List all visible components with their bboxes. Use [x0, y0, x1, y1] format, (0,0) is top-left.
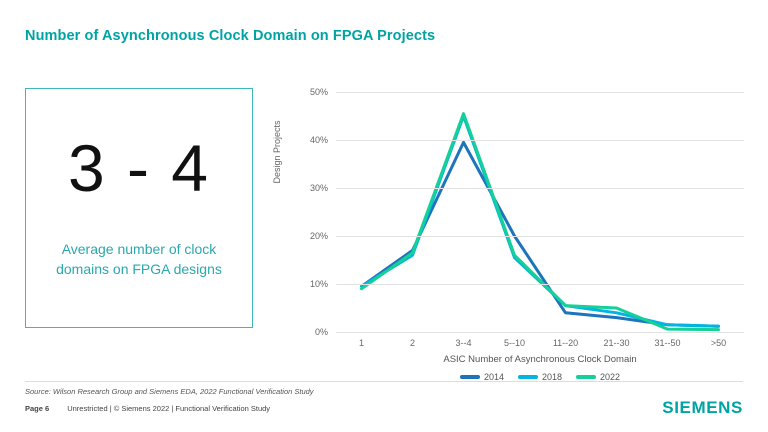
chart-y-tick-label: 10% [310, 279, 328, 289]
page-title: Number of Asynchronous Clock Domain on F… [25, 28, 435, 44]
chart-x-tick-label: 1 [359, 338, 364, 348]
chart-gridline [336, 332, 744, 333]
chart-y-tick-label: 20% [310, 231, 328, 241]
footer-page-row: Page 6 Unrestricted | © Siemens 2022 | F… [25, 404, 270, 413]
chart-x-axis-label: ASIC Number of Asynchronous Clock Domain [336, 354, 744, 365]
legend-swatch-icon [576, 375, 596, 379]
chart-x-tick-label: 11--20 [553, 338, 578, 348]
chart-x-tick-label: 2 [410, 338, 415, 348]
footer-divider [25, 381, 743, 382]
footer-source: Source: Wilson Research Group and Siemen… [25, 387, 314, 396]
chart-x-tick-label: >50 [711, 338, 726, 348]
siemens-logo: SIEMENS [662, 398, 743, 418]
chart-x-tick-label: 31--50 [654, 338, 680, 348]
chart: Design Projects 0%10%20%30%40%50%123--45… [278, 84, 756, 384]
slide-root: Number of Asynchronous Clock Domain on F… [0, 0, 768, 432]
callout-caption: Average number of clock domains on FPGA … [40, 239, 238, 280]
chart-y-axis-label: Design Projects [272, 92, 282, 212]
chart-y-tick-label: 50% [310, 87, 328, 97]
chart-series-line-2018 [362, 116, 719, 326]
chart-x-tick-label: 5--10 [504, 338, 525, 348]
chart-series-line-2014 [362, 142, 719, 326]
legend-swatch-icon [460, 375, 480, 379]
chart-plot-area: 0%10%20%30%40%50%123--45--1011--2021--30… [336, 92, 744, 332]
chart-y-tick-label: 0% [315, 327, 328, 337]
chart-gridline [336, 188, 744, 189]
chart-lines [336, 92, 744, 332]
footer-rights: Unrestricted | © Siemens 2022 | Function… [67, 404, 270, 413]
chart-series-line-2022 [362, 114, 719, 330]
callout-number: 3 - 4 [26, 135, 252, 201]
footer-page-number: Page 6 [25, 404, 49, 413]
chart-gridline [336, 236, 744, 237]
chart-gridline [336, 140, 744, 141]
callout-box: 3 - 4 Average number of clock domains on… [25, 88, 253, 328]
chart-x-tick-label: 21--30 [603, 338, 629, 348]
chart-gridline [336, 284, 744, 285]
chart-x-tick-label: 3--4 [455, 338, 471, 348]
chart-y-tick-label: 40% [310, 135, 328, 145]
chart-y-tick-label: 30% [310, 183, 328, 193]
chart-gridline [336, 92, 744, 93]
legend-swatch-icon [518, 375, 538, 379]
